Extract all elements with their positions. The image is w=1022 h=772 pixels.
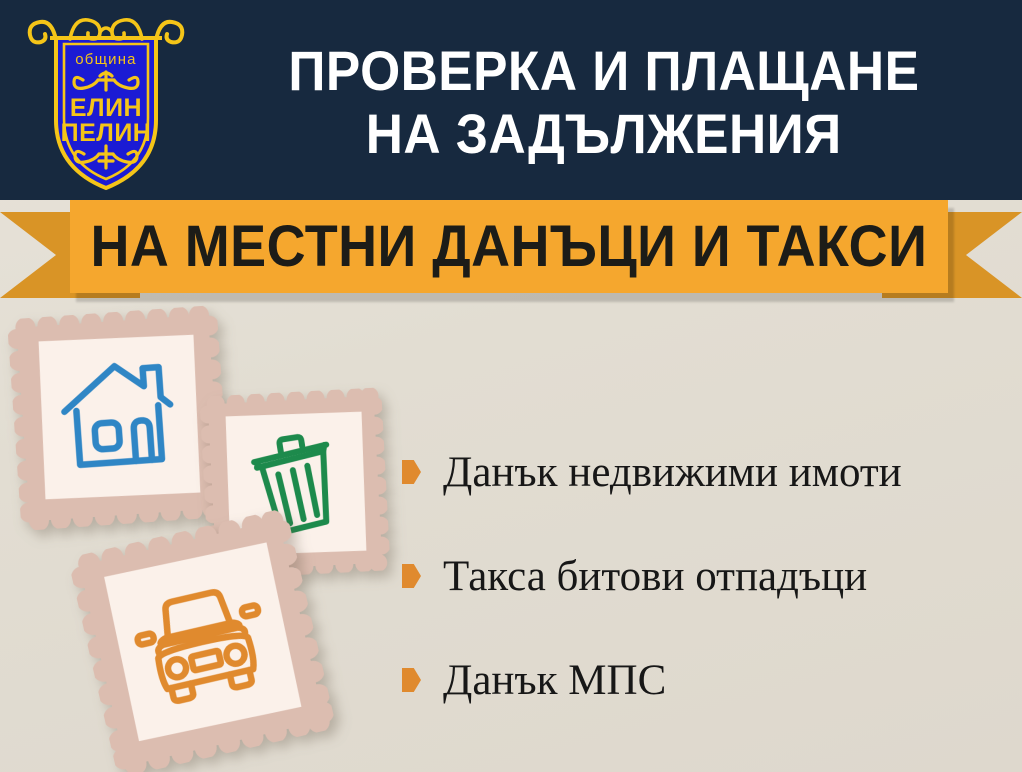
tax-item-label: Такса битови отпадъци	[443, 555, 867, 598]
page-title-line-1: ПРОВЕРКА И ПЛАЩАНЕ	[289, 39, 920, 102]
page-title: ПРОВЕРКА И ПЛАЩАНЕ НА ЗАДЪЛЖЕНИЯ	[196, 14, 1012, 190]
bullet-arrow-icon	[402, 564, 421, 588]
ribbon-band: НА МЕСТНИ ДАНЪЦИ И ТАКСИ	[70, 200, 948, 293]
tax-item-label: Данък недвижими имоти	[443, 451, 902, 494]
crest-name-line2: ПЕЛИН	[61, 119, 152, 147]
municipality-crest-logo: община ЕЛИН ПЕЛИН	[26, 8, 186, 193]
tax-item-label: Данък МПС	[443, 659, 666, 702]
poster: община ЕЛИН ПЕЛИН ПРОВЕРКА И ПЛАЩАНЕ НА …	[0, 0, 1022, 772]
stamp-paper	[39, 335, 201, 500]
list-item[interactable]: Такса битови отпадъци	[402, 524, 1012, 628]
subtitle-ribbon: НА МЕСТНИ ДАНЪЦИ И ТАКСИ	[0, 200, 1022, 310]
tax-type-list: Данък недвижими имоти Такса битови отпад…	[402, 420, 1012, 732]
page-title-line-2: НА ЗАДЪЛЖЕНИЯ	[366, 102, 842, 165]
ribbon-text: НА МЕСТНИ ДАНЪЦИ И ТАКСИ	[91, 218, 928, 276]
bullet-arrow-icon	[402, 668, 421, 692]
stamp-house	[7, 305, 231, 531]
crest-label-top: община	[75, 51, 136, 68]
list-item[interactable]: Данък МПС	[402, 628, 1012, 732]
crest-name-line1: ЕЛИН	[70, 94, 142, 122]
list-item[interactable]: Данък недвижими имоти	[402, 420, 1012, 524]
bullet-arrow-icon	[402, 460, 421, 484]
